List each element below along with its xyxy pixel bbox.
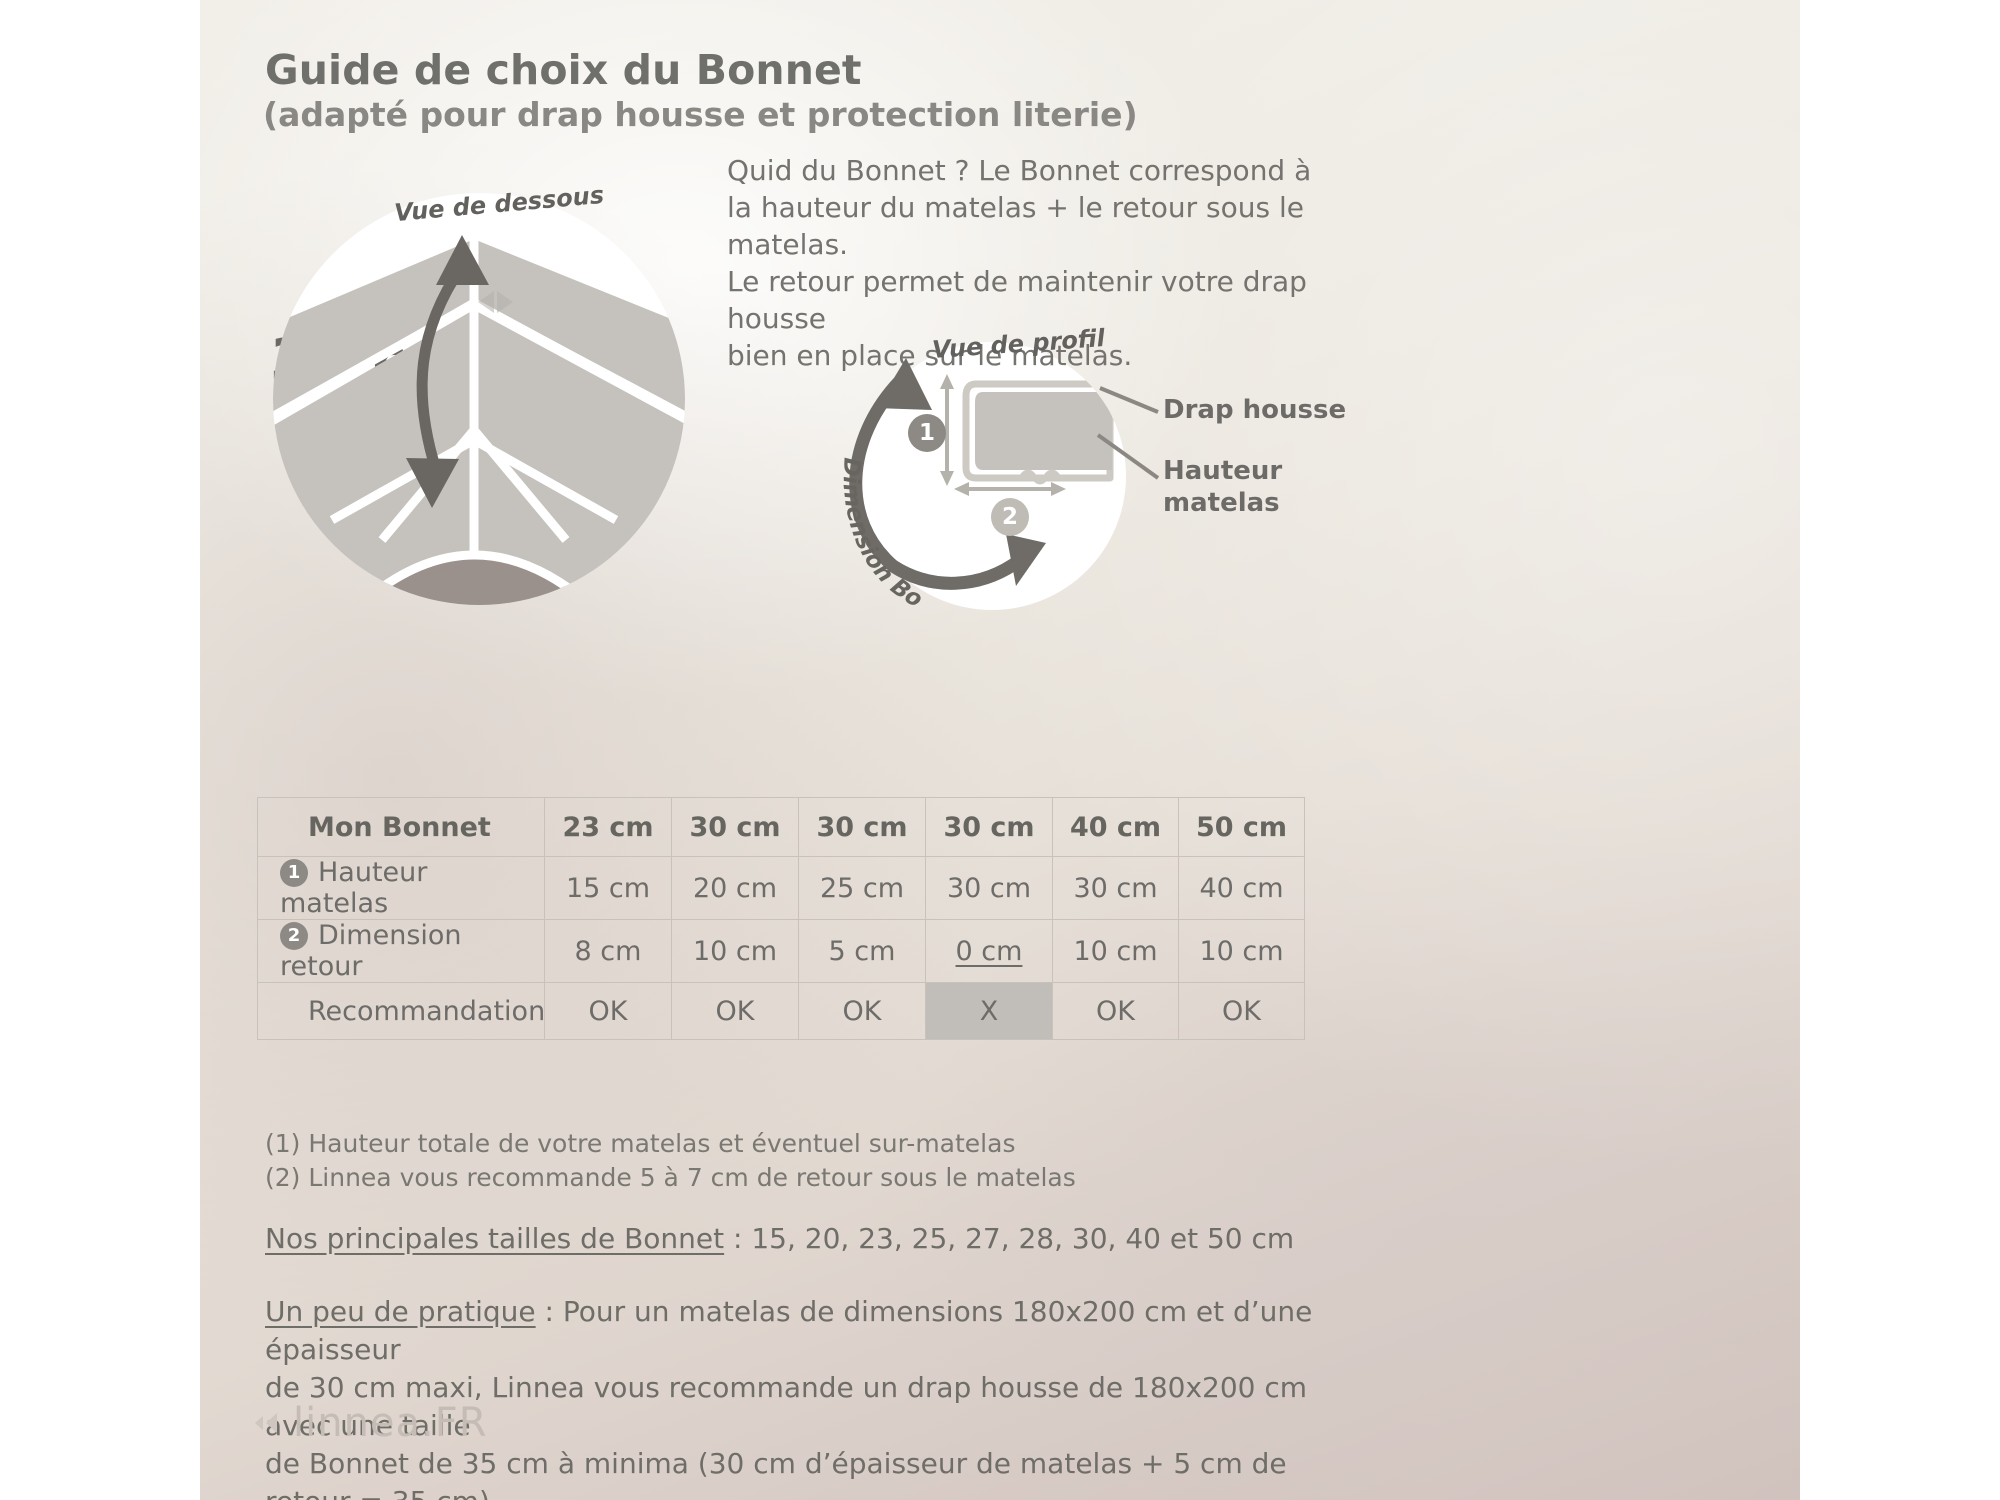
row-label-recommandation: Recommandation xyxy=(258,983,545,1040)
table-row: 2Dimension retour 8 cm 10 cm 5 cm 0 cm 1… xyxy=(258,920,1305,983)
page-subtitle: (adapté pour drap housse et protection l… xyxy=(263,95,1138,134)
footnote-2: (2) Linnea vous recommande 5 à 7 cm de r… xyxy=(265,1161,1076,1195)
page-title: Guide de choix du Bonnet xyxy=(265,46,862,94)
bonnet-table: Mon Bonnet 23 cm 30 cm 30 cm 30 cm 40 cm… xyxy=(257,797,1305,1040)
cell-r0-c0: 15 cm xyxy=(545,857,672,920)
infographic-page: Dimension Bonnet Guide de choix du Bonne… xyxy=(0,0,2000,1500)
cell-r1-c5: 10 cm xyxy=(1179,920,1305,983)
sizes-line: Nos principales tailles de Bonnet : 15, … xyxy=(265,1222,1294,1255)
bonnet-table-wrapper: Mon Bonnet 23 cm 30 cm 30 cm 30 cm 40 cm… xyxy=(257,797,1304,1040)
table-header-row: Mon Bonnet 23 cm 30 cm 30 cm 30 cm 40 cm… xyxy=(258,798,1305,857)
row-label-dimension-retour: 2Dimension retour xyxy=(258,920,545,983)
cell-r2-c4: OK xyxy=(1053,983,1179,1040)
left-gutter xyxy=(0,0,200,1500)
cell-r1-c3-value: 0 cm xyxy=(956,936,1023,967)
callout-hauteur-line-2: matelas xyxy=(1163,487,1282,519)
marker-2-label: 2 xyxy=(1002,504,1018,530)
practice-line-1: Un peu de pratique : Pour un matelas de … xyxy=(265,1293,1365,1369)
callout-drap-housse: Drap housse xyxy=(1163,394,1346,426)
circle-profile-view xyxy=(858,342,1126,610)
cell-r2-c3-highlighted: X xyxy=(926,983,1053,1040)
table-header-cell-3: 30 cm xyxy=(799,798,926,857)
intro-line-1: Quid du Bonnet ? Le Bonnet correspond à xyxy=(727,152,1347,189)
cell-r0-c2: 25 cm xyxy=(799,857,926,920)
linnea-logo[interactable]: linnea.FR xyxy=(255,1400,488,1446)
bonnet-measure-value: 35 cm xyxy=(270,326,468,394)
table-row: 1Hauteur matelas 15 cm 20 cm 25 cm 30 cm… xyxy=(258,857,1305,920)
row-label-text-2: Recommandation xyxy=(308,996,545,1027)
cell-r1-c4: 10 cm xyxy=(1053,920,1179,983)
row-badge-2: 2 xyxy=(280,922,308,950)
cell-r2-c1: OK xyxy=(672,983,799,1040)
table-row: Recommandation OK OK OK X OK OK xyxy=(258,983,1305,1040)
sizes-label: Nos principales tailles de Bonnet xyxy=(265,1222,724,1255)
practice-line-3: de Bonnet de 35 cm à minima (30 cm d’épa… xyxy=(265,1445,1365,1500)
logo-text: linnea.FR xyxy=(293,1400,488,1446)
callout-hauteur-line-1: Hauteur xyxy=(1163,455,1282,487)
cell-r0-c4: 30 cm xyxy=(1053,857,1179,920)
cell-r2-c5: OK xyxy=(1179,983,1305,1040)
diamond-logo-icon xyxy=(255,1410,281,1436)
table-header-cell-2: 30 cm xyxy=(672,798,799,857)
table-header-cell-6: 50 cm xyxy=(1179,798,1305,857)
circle-bottom-view xyxy=(273,193,685,605)
callout-hauteur-matelas: Hauteur matelas xyxy=(1163,455,1282,519)
sizes-value: : 15, 20, 23, 25, 27, 28, 30, 40 et 50 c… xyxy=(724,1222,1294,1255)
cell-r0-c3: 30 cm xyxy=(926,857,1053,920)
cell-r2-c0: OK xyxy=(545,983,672,1040)
cell-r0-c5: 40 cm xyxy=(1179,857,1305,920)
marker-1-label: 1 xyxy=(919,420,935,446)
footnotes: (1) Hauteur totale de votre matelas et é… xyxy=(265,1127,1076,1195)
practice-label: Un peu de pratique xyxy=(265,1295,536,1328)
cell-r2-c2: OK xyxy=(799,983,926,1040)
row-label-hauteur-matelas: 1Hauteur matelas xyxy=(258,857,545,920)
table-header-cell-0: Mon Bonnet xyxy=(258,798,545,857)
table-header-cell-5: 40 cm xyxy=(1053,798,1179,857)
table-header-cell-1: 23 cm xyxy=(545,798,672,857)
row-badge-1: 1 xyxy=(280,859,308,887)
cell-r0-c1: 20 cm xyxy=(672,857,799,920)
cell-r1-c0: 8 cm xyxy=(545,920,672,983)
cell-r1-c2: 5 cm xyxy=(799,920,926,983)
cell-r1-c1: 10 cm xyxy=(672,920,799,983)
marker-1-badge: 1 xyxy=(908,414,946,452)
cell-r1-c3: 0 cm xyxy=(926,920,1053,983)
practice-paragraph: Un peu de pratique : Pour un matelas de … xyxy=(265,1293,1365,1500)
table-header-cell-4: 30 cm xyxy=(926,798,1053,857)
right-gutter xyxy=(1800,0,2000,1500)
footnote-1: (1) Hauteur totale de votre matelas et é… xyxy=(265,1127,1076,1161)
intro-line-2: la hauteur du matelas + le retour sous l… xyxy=(727,189,1347,263)
row-label-text-1: Dimension retour xyxy=(280,920,462,982)
intro-line-3: Le retour permet de maintenir votre drap… xyxy=(727,263,1347,337)
marker-2-badge: 2 xyxy=(991,498,1029,536)
